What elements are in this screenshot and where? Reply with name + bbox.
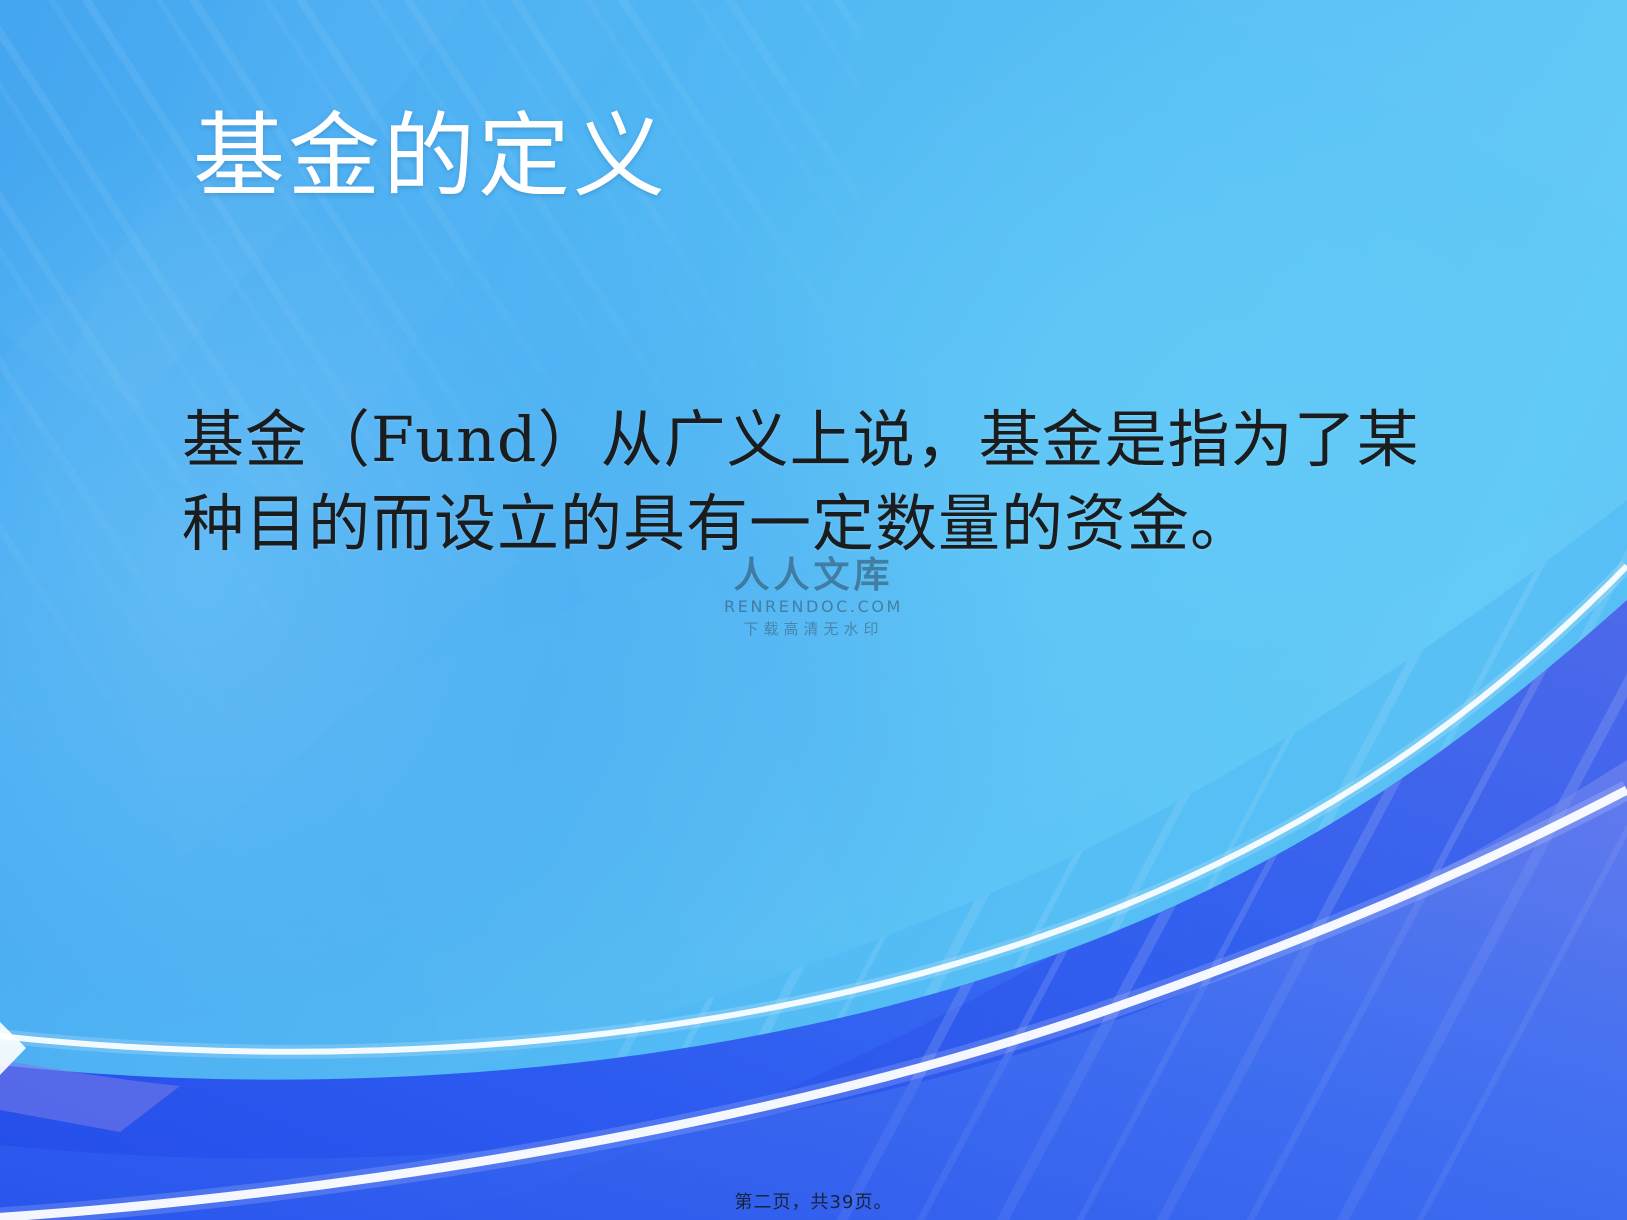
slide-body-text: 基金（Fund）从广义上说，基金是指为了某 种目的而设立的具有一定数量的资金。 [182, 398, 1472, 566]
body-line-1: 基金（Fund）从广义上说，基金是指为了某 [182, 398, 1472, 482]
page-number-footer: 第二页，共39页。 [0, 1188, 1627, 1214]
presentation-slide: 基金的定义 基金（Fund）从广义上说，基金是指为了某 种目的而设立的具有一定数… [0, 0, 1627, 1220]
body-line-2: 种目的而设立的具有一定数量的资金。 [182, 482, 1472, 566]
slide-title: 基金的定义 [193, 104, 668, 210]
